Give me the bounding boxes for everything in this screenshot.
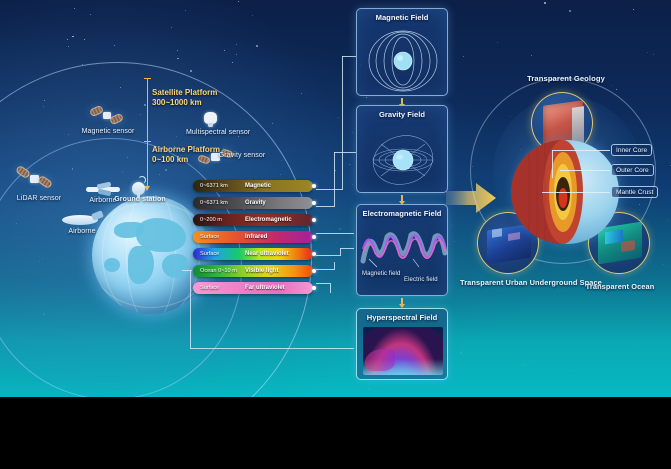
magnetic-sensor-label: Magnetic sensor xyxy=(70,128,146,137)
electromagnetic-annotation-electric: Electric field xyxy=(404,277,438,285)
panel-electromagnetic-field-title: Electromagnetic Field xyxy=(357,209,447,218)
panel-hyperspectral-field-title: Hyperspectral Field xyxy=(357,313,447,322)
ground-station-label: Ground station xyxy=(112,196,168,205)
spectrum-bar-near-ultraviolet[interactable]: SurfaceNear ultraviolet xyxy=(193,248,313,260)
platform-satellite-label: Satellite Platform 300~1000 km xyxy=(152,88,217,108)
spectrum-bar-range: Ocean 0~10 m xyxy=(200,265,237,277)
airborne-aircraft-icon xyxy=(84,182,122,196)
spectrum-bar-range: Surface xyxy=(200,248,219,260)
spectrum-bar-range: Surface xyxy=(200,231,219,243)
panel-gravity-field-title: Gravity Field xyxy=(357,110,447,119)
spectrum-bar-name: Near ultraviolet xyxy=(245,248,289,260)
multispectral-sensor-icon xyxy=(200,110,222,128)
figure-root: Satellite Platform 300~1000 km Airborne … xyxy=(0,0,671,469)
spectrum-bar-range: 0~200 m xyxy=(200,214,222,226)
gravity-sensor-label: Gravity sensor xyxy=(218,152,266,161)
spectrum-bar-range: Surface xyxy=(200,282,219,294)
spectrum-bar-name: Visible light xyxy=(245,265,279,277)
callout-mantle-crust[interactable]: Mantle Crust xyxy=(611,186,658,198)
transparent-ocean-label: Transparent Ocean xyxy=(576,282,664,291)
diagram-scene: Satellite Platform 300~1000 km Airborne … xyxy=(0,0,671,397)
spectrum-bar-name: Infrared xyxy=(245,231,267,243)
spectrum-bar-name: Gravity xyxy=(245,197,266,209)
callout-outer-core[interactable]: Outer Core xyxy=(611,164,654,176)
spectrum-bar-name: Electromagnetic xyxy=(245,214,292,226)
callout-inner-core[interactable]: Inner Core xyxy=(611,144,652,156)
airborne-platform-altitude: 0~100 km xyxy=(152,155,188,164)
spectrum-bar-range: 0~6371 km xyxy=(200,197,228,209)
platform-scale-line xyxy=(147,78,148,188)
spectrum-bar-gravity[interactable]: 0~6371 kmGravity xyxy=(193,197,313,209)
spectrum-bar-far-ultraviolet[interactable]: SurfaceFar ultraviolet xyxy=(193,282,313,294)
satellite-platform-name: Satellite Platform xyxy=(152,88,217,97)
spectrum-bar-visible-light[interactable]: Ocean 0~10 mVisible light xyxy=(193,265,313,277)
transparent-urban-label: Transparent Urban Underground Space xyxy=(460,278,556,287)
spectrum-bar-range: 0~6371 km xyxy=(200,180,228,192)
lidar-sensor-icon xyxy=(16,166,54,192)
spectrum-bar-list: 0~6371 kmMagnetic0~6371 kmGravity0~200 m… xyxy=(193,180,313,299)
electromagnetic-annotation-magnetic: Magnetic field xyxy=(362,271,400,278)
arrow-electromagnetic-to-hyperspectral xyxy=(399,298,405,308)
panel-gravity-field[interactable]: Gravity Field xyxy=(356,105,448,193)
panel-magnetic-field[interactable]: Magnetic Field xyxy=(356,8,448,96)
panel-hyperspectral-field[interactable]: Hyperspectral Field xyxy=(356,308,448,380)
spectrum-bar-name: Magnetic xyxy=(245,180,271,192)
spectrum-bar-magnetic[interactable]: 0~6371 kmMagnetic xyxy=(193,180,313,192)
spectrum-bar-name: Far ultraviolet xyxy=(245,282,285,294)
spectrum-bar-infrared[interactable]: SurfaceInfrared xyxy=(193,231,313,243)
magnetic-sensor-icon xyxy=(90,104,124,128)
airborne-airship-label: Airborne xyxy=(58,228,106,237)
airborne-airship-icon xyxy=(62,212,104,226)
satellite-platform-altitude: 300~1000 km xyxy=(152,98,202,107)
spectrum-bar-electromagnetic[interactable]: 0~200 mElectromagnetic xyxy=(193,214,313,226)
panel-electromagnetic-field[interactable]: Electromagnetic Field Magnetic field Ele… xyxy=(356,204,448,296)
transparent-geology-label: Transparent Geology xyxy=(486,74,646,83)
panel-magnetic-field-title: Magnetic Field xyxy=(357,13,447,22)
lidar-sensor-label: LiDAR sensor xyxy=(4,195,74,204)
multispectral-sensor-label: Multispectral sensor xyxy=(186,129,244,138)
